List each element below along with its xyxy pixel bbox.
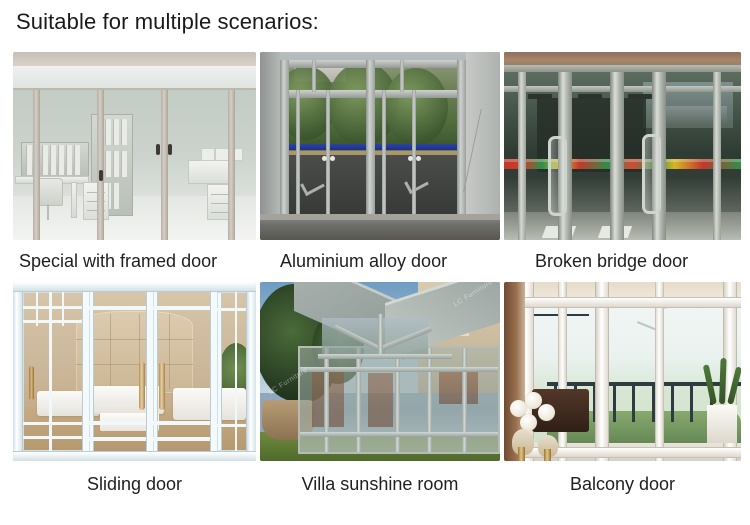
glazing-bar	[23, 436, 87, 439]
door-lock	[408, 156, 413, 161]
desk-leg	[71, 182, 77, 218]
door-pull-handle[interactable]	[548, 136, 567, 216]
railing-baluster	[613, 382, 616, 421]
door-jamb	[518, 72, 526, 240]
door-jamb	[280, 60, 289, 214]
glazing-bar	[23, 320, 87, 323]
door-lock	[416, 156, 421, 161]
glazing-bar	[36, 292, 38, 326]
door-handle[interactable]	[159, 362, 165, 410]
glazing-bar	[23, 422, 87, 425]
door-stile	[382, 90, 386, 214]
glazing-bar	[49, 292, 52, 451]
file-binder	[42, 145, 48, 175]
door-pull-handle[interactable]	[642, 134, 661, 214]
door-sash-center-right[interactable]	[147, 282, 221, 461]
window-mullion	[559, 282, 566, 461]
door-closer	[628, 94, 652, 99]
interior-furniture	[439, 369, 479, 404]
sunroom-glass-body	[298, 346, 500, 453]
railing-baluster	[690, 382, 693, 421]
glazing-bar	[62, 292, 64, 326]
door-center-post	[610, 72, 624, 240]
scenario-grid: Special with framed door	[13, 52, 737, 494]
door-closer	[578, 94, 602, 99]
scenario-card-broken-bridge-door[interactable]: Broken bridge door	[504, 52, 741, 282]
exterior-wall-right	[466, 52, 500, 240]
office-glass-partition-photo[interactable]	[13, 52, 256, 240]
scenario-caption: Sliding door	[13, 461, 256, 494]
door-stile	[412, 90, 416, 214]
door-lock	[322, 156, 327, 161]
door-jamb	[457, 60, 466, 214]
glazing-bar	[153, 437, 215, 441]
scenario-card-balcony-door[interactable]: Balcony door	[504, 282, 741, 494]
scenario-caption: Balcony door	[504, 461, 741, 494]
threshold-step	[260, 214, 500, 240]
glazing-bar	[23, 306, 87, 309]
door-closer	[528, 94, 552, 99]
file-binder	[58, 145, 64, 175]
door-handle[interactable]	[139, 362, 145, 410]
scenario-caption: Villa sunshine room	[260, 461, 500, 494]
file-binder	[113, 119, 119, 145]
interior-shutter	[368, 373, 394, 427]
door-stile	[656, 282, 663, 461]
scenario-card-special-framed-door[interactable]: Special with framed door	[13, 52, 256, 282]
drawer-cabinet	[83, 182, 109, 220]
door-handle	[168, 144, 172, 155]
door-head-frame	[13, 282, 256, 291]
aluminium-alloy-door-photo[interactable]	[260, 52, 500, 240]
mullion-transom	[400, 60, 404, 92]
scenario-card-aluminium-alloy-door[interactable]: Aluminium alloy door	[260, 52, 500, 282]
canopy-roof	[504, 52, 741, 72]
balcony-door-photo[interactable]	[504, 282, 741, 461]
railing-baluster	[652, 382, 655, 421]
ceiling-band	[13, 52, 256, 66]
glazing-bar	[89, 421, 151, 425]
glazing-bar	[217, 308, 248, 311]
storage-box	[215, 148, 229, 161]
file-binder	[26, 145, 32, 175]
file-binder	[113, 183, 119, 209]
door-sill-frame	[13, 452, 256, 461]
mullion-transom	[312, 60, 316, 92]
door-center-post	[596, 282, 608, 461]
door-lock	[330, 156, 335, 161]
sliding-door-photo[interactable]	[13, 282, 256, 461]
door-stile	[296, 90, 300, 214]
door-sash-left[interactable]	[17, 286, 93, 457]
glazing-bar	[235, 292, 237, 451]
file-binder	[121, 151, 127, 177]
glazing-bar	[153, 421, 215, 425]
door-handle[interactable]	[29, 366, 34, 400]
plant-pot	[707, 405, 737, 443]
scenario-caption: Special with framed door	[13, 240, 256, 282]
file-binder	[50, 145, 56, 175]
door-jamb	[713, 72, 721, 240]
roof-king-post	[378, 314, 383, 357]
scenario-card-sliding-door[interactable]: Sliding door	[13, 282, 256, 494]
railing-baluster	[632, 382, 635, 421]
glazing-bar	[89, 306, 151, 310]
broken-bridge-door-photo[interactable]	[504, 52, 741, 240]
glazing-bar	[89, 437, 151, 441]
file-binder	[66, 145, 72, 175]
page-title: Suitable for multiple scenarios:	[16, 8, 319, 36]
sunroom-rail	[300, 367, 498, 372]
scenario-card-villa-sunshine-room[interactable]: LC Furniture LC Furniture Villa sunshine…	[260, 282, 500, 494]
rose-flower	[538, 404, 555, 421]
reflected-tree	[384, 68, 448, 146]
scenario-caption: Broken bridge door	[504, 240, 741, 282]
chair-stem	[47, 204, 49, 220]
railing-baluster	[671, 382, 674, 421]
file-binder	[105, 119, 111, 145]
door-handle	[99, 170, 103, 181]
file-binder	[105, 151, 111, 177]
transom-panel	[13, 66, 256, 90]
file-binder	[74, 145, 80, 175]
roof-tie-beam	[318, 354, 452, 359]
glazing-bar	[217, 424, 248, 427]
exterior-wall-left	[260, 52, 280, 240]
door-stile	[326, 90, 330, 214]
door-sash-center-left[interactable]	[83, 282, 157, 461]
file-binder	[121, 119, 127, 145]
storage-box	[201, 148, 215, 161]
door-handle	[156, 144, 160, 155]
door-outer-jamb-right	[247, 282, 256, 461]
scenario-caption: Aluminium alloy door	[260, 240, 500, 282]
bookshelf-upper	[21, 142, 89, 178]
sunroom-rail	[300, 432, 498, 437]
glazing-bar	[153, 306, 215, 310]
gold-candlestick	[518, 447, 525, 461]
door-head-frame	[504, 298, 741, 307]
door-center-post	[366, 60, 375, 214]
scenario-gallery-page: Suitable for multiple scenarios:	[0, 0, 750, 525]
gold-candlestick	[544, 449, 551, 461]
file-binder	[113, 151, 119, 177]
villa-sunshine-room-photo[interactable]: LC Furniture LC Furniture	[260, 282, 500, 461]
door-outer-jamb-left	[13, 282, 22, 461]
